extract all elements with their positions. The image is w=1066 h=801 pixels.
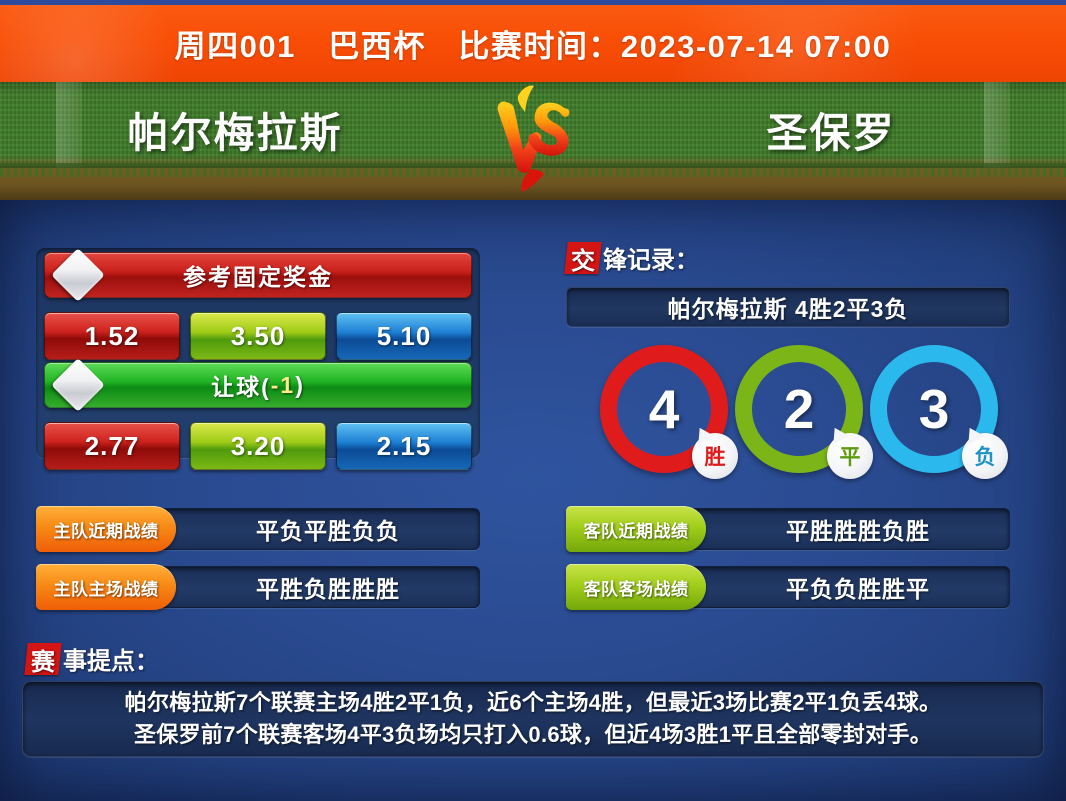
away-venue-form-value: 平负负胜胜平 <box>706 566 1010 608</box>
h2h-section-label: 交 锋记录： <box>566 240 699 275</box>
home-recent-form-row: 主队近期战绩 平负平胜负负 <box>36 508 480 550</box>
ring-badge-loss: 负 <box>962 433 1008 479</box>
match-preview-page: 周四001 巴西杯 比赛时间：2023-07-14 07:00 帕尔梅拉斯 圣保… <box>0 0 1066 801</box>
home-venue-form-row: 主队主场战绩 平胜负胜胜胜 <box>36 566 480 608</box>
home-team-name: 帕尔梅拉斯 <box>0 99 470 159</box>
handicap-odd-away[interactable]: 2.15 <box>336 422 472 470</box>
home-venue-form-value: 平胜负胜胜胜 <box>176 566 480 608</box>
fixed-odd-away[interactable]: 5.10 <box>336 312 472 360</box>
diamond-icon <box>51 248 105 302</box>
handicap-title-suffix: ) <box>295 372 305 399</box>
h2h-label-chip: 交 <box>564 242 601 274</box>
handicap-odds-row: 2.77 3.20 2.15 <box>44 422 472 470</box>
notes-line-2: 圣保罗前7个联赛客场4平3负场均只打入0.6球，但近4场3胜1平且全部零封对手。 <box>134 719 932 751</box>
h2h-ring-draw: 2 平 <box>735 345 863 473</box>
vs-flame-icon <box>478 84 590 196</box>
fixed-odds-row: 1.52 3.50 5.10 <box>44 312 472 360</box>
away-recent-form-row: 客队近期战绩 平胜胜胜负胜 <box>566 508 1010 550</box>
ring-badge-draw: 平 <box>827 433 873 479</box>
h2h-label-text: 锋记录： <box>603 240 699 275</box>
notes-line-1: 帕尔梅拉斯7个联赛主场4胜2平1负，近6个主场4胜，但最近3场比赛2平1负丢4球… <box>125 687 942 719</box>
fixed-odd-home[interactable]: 1.52 <box>44 312 180 360</box>
h2h-ring-win: 4 胜 <box>600 345 728 473</box>
h2h-summary-bar: 帕尔梅拉斯 4胜2平3负 <box>566 287 1010 327</box>
handicap-value: -1 <box>271 372 295 399</box>
home-venue-form-tag: 主队主场战绩 <box>36 564 176 610</box>
h2h-ring-loss: 3 负 <box>870 345 998 473</box>
home-recent-form-tag: 主队近期战绩 <box>36 506 176 552</box>
notes-box: 帕尔梅拉斯7个联赛主场4胜2平1负，近6个主场4胜，但最近3场比赛2平1负丢4球… <box>22 681 1044 757</box>
notes-label-chip: 赛 <box>24 643 61 675</box>
away-venue-form-tag: 客队客场战绩 <box>566 564 706 610</box>
handicap-odd-home[interactable]: 2.77 <box>44 422 180 470</box>
away-recent-form-tag: 客队近期战绩 <box>566 506 706 552</box>
handicap-title-bar[interactable]: 让球(-1 ) <box>44 362 472 408</box>
fixed-odds-title-bar[interactable]: 参考固定奖金 <box>44 252 472 298</box>
home-recent-form-value: 平负平胜负负 <box>176 508 480 550</box>
diamond-icon <box>51 358 105 412</box>
notes-section-label: 赛 事提点： <box>26 641 159 676</box>
fixed-odd-draw[interactable]: 3.50 <box>190 312 326 360</box>
away-team-name: 圣保罗 <box>596 99 1066 159</box>
away-venue-form-row: 客队客场战绩 平负负胜胜平 <box>566 566 1010 608</box>
fixed-odds-title: 参考固定奖金 <box>183 258 333 292</box>
handicap-odd-draw[interactable]: 3.20 <box>190 422 326 470</box>
handicap-title-prefix: 让球( <box>211 368 271 402</box>
header-band: 周四001 巴西杯 比赛时间：2023-07-14 07:00 <box>0 5 1066 82</box>
away-recent-form-value: 平胜胜胜负胜 <box>706 508 1010 550</box>
ring-badge-win: 胜 <box>692 433 738 479</box>
notes-label-text: 事提点： <box>63 641 159 676</box>
header-title: 周四001 巴西杯 比赛时间：2023-07-14 07:00 <box>175 21 892 66</box>
